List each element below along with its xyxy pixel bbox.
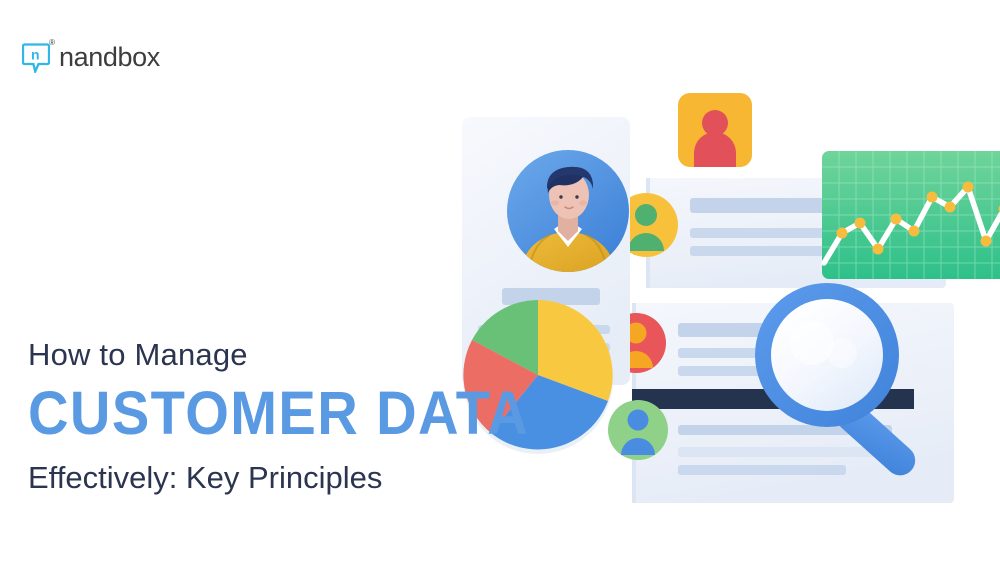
brand-name: nandbox [59,42,160,73]
nandbox-speech-bubble-icon: n ® [22,43,50,73]
page-canvas: n ® nandbox How to Manage CUSTOMER DATA … [0,0,1000,563]
brand-logo[interactable]: n ® nandbox [22,42,160,73]
headline-title: CUSTOMER DATA [28,381,598,445]
person-badge-icon [678,93,752,167]
headline-block: How to Manage CUSTOMER DATA Effectively:… [28,336,648,498]
registered-trademark-icon: ® [49,38,55,47]
svg-text:n: n [31,46,40,62]
headline-kicker: How to Manage [28,336,648,375]
headline-subtitle: Effectively: Key Principles [28,459,648,498]
line-chart-icon [822,151,1000,279]
